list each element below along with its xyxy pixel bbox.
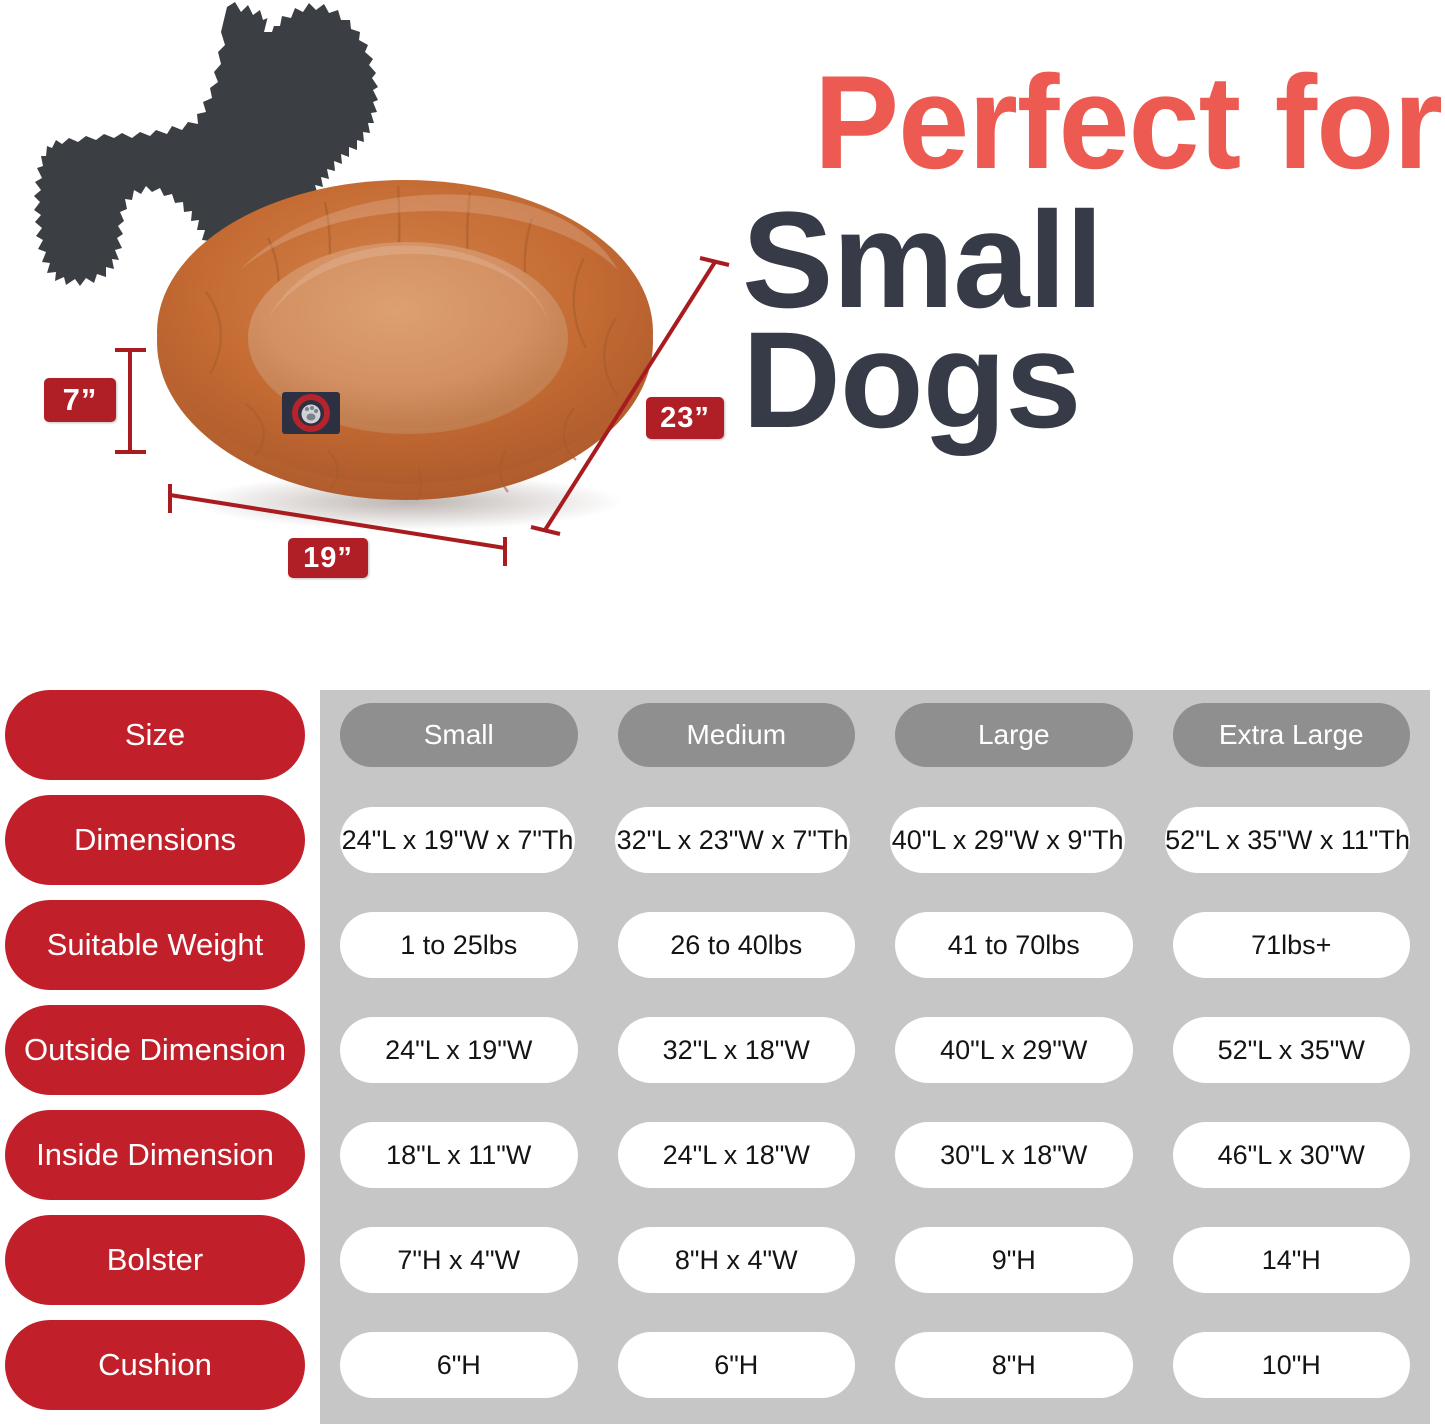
table-row: 6"H 6"H 8"H 10"H xyxy=(320,1320,1430,1410)
cell-dimensions-medium: 32"L x 23"W x 7"Th xyxy=(615,807,850,873)
size-chart: Size Dimensions Suitable Weight Outside … xyxy=(0,672,1445,1424)
row-label-dimensions: Dimensions xyxy=(5,795,305,885)
cell-outside-medium: 32"L x 18"W xyxy=(618,1017,856,1083)
cell-outside-small: 24"L x 19"W xyxy=(340,1017,578,1083)
size-chart-header-row: Small Medium Large Extra Large xyxy=(320,690,1430,780)
hero-section: 7” 19” 23” Perfect for Small Dogs xyxy=(0,0,1445,670)
cell-cushion-large: 8"H xyxy=(895,1332,1133,1398)
cell-outside-large: 40"L x 29"W xyxy=(895,1017,1133,1083)
cell-bolster-large: 9"H xyxy=(895,1227,1133,1293)
table-row: 24"L x 19"W 32"L x 18"W 40"L x 29"W 52"L… xyxy=(320,1005,1430,1095)
cell-cushion-medium: 6"H xyxy=(618,1332,856,1398)
cell-weight-small: 1 to 25lbs xyxy=(340,912,578,978)
cell-inside-medium: 24"L x 18"W xyxy=(618,1122,856,1188)
size-chart-label-column: Size Dimensions Suitable Weight Outside … xyxy=(5,690,307,1425)
headline-block: Perfect for Small Dogs xyxy=(742,62,1442,444)
row-label-outside-dimension: Outside Dimension xyxy=(5,1005,305,1095)
size-chart-grid: Small Medium Large Extra Large 24"L x 19… xyxy=(320,690,1430,1425)
column-header-medium: Medium xyxy=(618,703,856,767)
cell-cushion-xlarge: 10"H xyxy=(1173,1332,1411,1398)
headline-line-1: Perfect for xyxy=(770,62,1442,184)
table-row: 7"H x 4"W 8"H x 4"W 9"H 14"H xyxy=(320,1215,1430,1305)
cell-weight-medium: 26 to 40lbs xyxy=(618,912,856,978)
cell-bolster-small: 7"H x 4"W xyxy=(340,1227,578,1293)
column-header-extra-large: Extra Large xyxy=(1173,703,1411,767)
headline-line-3: Dogs xyxy=(742,318,1442,444)
row-label-inside-dimension: Inside Dimension xyxy=(5,1110,305,1200)
table-row: 18"L x 11"W 24"L x 18"W 30"L x 18"W 46"L… xyxy=(320,1110,1430,1200)
cell-cushion-small: 6"H xyxy=(340,1332,578,1398)
cell-outside-xlarge: 52"L x 35"W xyxy=(1173,1017,1411,1083)
table-row: 24"L x 19"W x 7"Th 32"L x 23"W x 7"Th 40… xyxy=(320,795,1430,885)
cell-dimensions-small: 24"L x 19"W x 7"Th xyxy=(340,807,575,873)
measurement-badge-length: 23” xyxy=(646,397,724,439)
row-label-suitable-weight: Suitable Weight xyxy=(5,900,305,990)
row-label-cushion: Cushion xyxy=(5,1320,305,1410)
cell-dimensions-large: 40"L x 29"W x 9"Th xyxy=(890,807,1125,873)
cell-bolster-medium: 8"H x 4"W xyxy=(618,1227,856,1293)
row-label-size: Size xyxy=(5,690,305,780)
column-header-large: Large xyxy=(895,703,1133,767)
cell-weight-large: 41 to 70lbs xyxy=(895,912,1133,978)
cell-inside-small: 18"L x 11"W xyxy=(340,1122,578,1188)
cell-inside-large: 30"L x 18"W xyxy=(895,1122,1133,1188)
measurement-badge-width: 19” xyxy=(288,538,368,578)
cell-dimensions-xlarge: 52"L x 35"W x 11"Th xyxy=(1165,807,1410,873)
column-header-small: Small xyxy=(340,703,578,767)
cell-weight-xlarge: 71lbs+ xyxy=(1173,912,1411,978)
cell-inside-xlarge: 46"L x 30"W xyxy=(1173,1122,1411,1188)
measurement-badge-height: 7” xyxy=(44,378,116,422)
cell-bolster-xlarge: 14"H xyxy=(1173,1227,1411,1293)
row-label-bolster: Bolster xyxy=(5,1215,305,1305)
table-row: 1 to 25lbs 26 to 40lbs 41 to 70lbs 71lbs… xyxy=(320,900,1430,990)
